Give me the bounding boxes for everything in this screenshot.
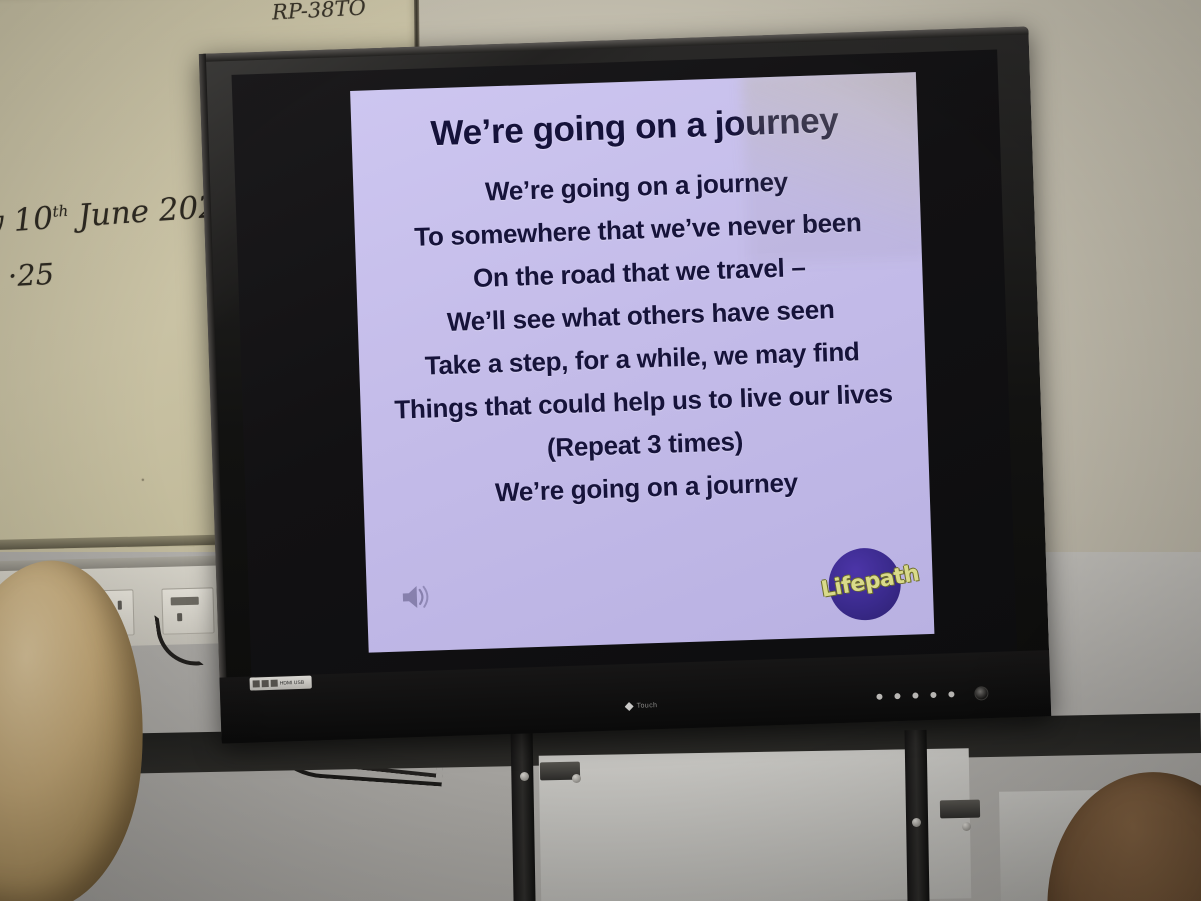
lyric-repeat-note: (Repeat 3 times) xyxy=(547,428,744,460)
classroom-scene: RP-38TO y 10th June 2025 ·25 · We’re goi… xyxy=(0,0,1201,901)
stand-bolt xyxy=(520,772,529,781)
lyric-line: We’re going on a journey xyxy=(495,469,799,505)
stand-bolt xyxy=(572,774,581,783)
stand-bolt xyxy=(962,822,971,831)
socket-hole xyxy=(118,601,122,610)
display-brand-mark: Touch xyxy=(625,701,658,711)
brand-mark-label: Touch xyxy=(637,702,658,710)
date-ordinal-suffix: th xyxy=(52,202,69,221)
date-prefix: y 10 xyxy=(0,200,54,241)
port-icon xyxy=(262,680,269,687)
slide-title: We’re going on a journey xyxy=(430,101,839,155)
port-icon xyxy=(253,680,260,687)
display-stand-post xyxy=(510,724,535,901)
port-label: HDMI USB xyxy=(249,676,311,691)
speaker-icon[interactable] xyxy=(398,581,433,612)
lyric-line: We’re going on a journey xyxy=(485,168,789,204)
interactive-display[interactable]: We’re going on a journey We’re going on … xyxy=(199,26,1051,743)
lyric-line: Take a step, for a while, we may find xyxy=(424,338,860,378)
lyric-line: To somewhere that we’ve never been xyxy=(414,209,862,250)
lyric-line: Things that could help us to live our li… xyxy=(394,380,893,423)
display-stand-post xyxy=(905,730,930,901)
port-label-text: HDMI USB xyxy=(280,679,305,686)
lyric-line: We’ll see what others have seen xyxy=(447,296,835,335)
whiteboard-second-line: ·25 xyxy=(7,257,55,293)
lifepath-logo: Lifepath xyxy=(821,543,908,630)
stand-bolt xyxy=(912,818,921,827)
socket-switch xyxy=(171,597,199,606)
stand-bracket xyxy=(940,800,980,819)
whiteboard-faint-mark: · xyxy=(140,470,146,491)
diamond-brand-icon xyxy=(625,702,634,711)
lyric-line: On the road that we travel – xyxy=(473,254,806,291)
presentation-slide[interactable]: We’re going on a journey We’re going on … xyxy=(350,72,934,652)
display-screen[interactable]: We’re going on a journey We’re going on … xyxy=(232,49,1018,677)
port-icon xyxy=(271,680,278,687)
